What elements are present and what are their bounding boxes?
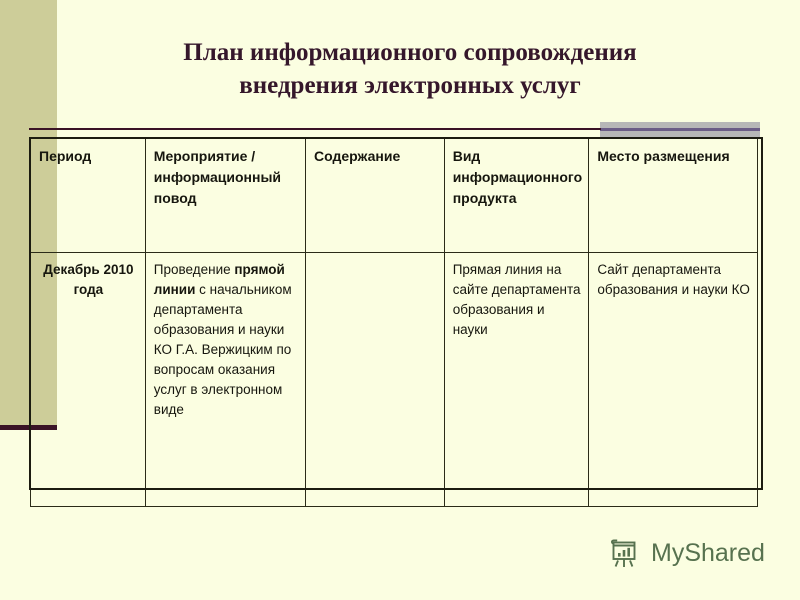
cell-period: Декабрь 2010 года (31, 253, 146, 507)
cell-event-prefix: Проведение (154, 262, 235, 277)
cell-event: Проведение прямой линии с начальником де… (145, 253, 305, 507)
cell-place: Сайт департамента образования и науки КО (589, 253, 758, 507)
cell-kind: Прямая линия на сайте департамента образ… (444, 253, 589, 507)
page-title: План информационного сопровождения внедр… (60, 36, 760, 102)
slide-canvas: План информационного сопровождения внедр… (0, 0, 800, 600)
myshared-watermark: MyShared (608, 536, 765, 570)
page-title-line-2: внедрения электронных услуг (60, 69, 760, 102)
myshared-watermark-label: MyShared (651, 539, 765, 568)
column-header-place: Место размещения (589, 139, 758, 253)
title-underline-rule (29, 128, 601, 130)
column-header-period: Период (31, 139, 146, 253)
column-header-kind: Вид информационного продукта (444, 139, 589, 253)
cell-event-suffix: с начальником департамента образования и… (154, 282, 292, 417)
flipchart-bar-chart-icon (608, 536, 642, 570)
plan-table: Период Мероприятие / информационный пово… (30, 138, 758, 507)
column-header-event: Мероприятие / информационный повод (145, 139, 305, 253)
column-header-content: Содержание (306, 139, 445, 253)
page-title-line-1: План информационного сопровождения (60, 36, 760, 69)
table-header-row: Период Мероприятие / информационный пово… (31, 139, 758, 253)
top-right-accent-line (600, 128, 760, 131)
cell-content (306, 253, 445, 507)
table-row: Декабрь 2010 года Проведение прямой лини… (31, 253, 758, 507)
